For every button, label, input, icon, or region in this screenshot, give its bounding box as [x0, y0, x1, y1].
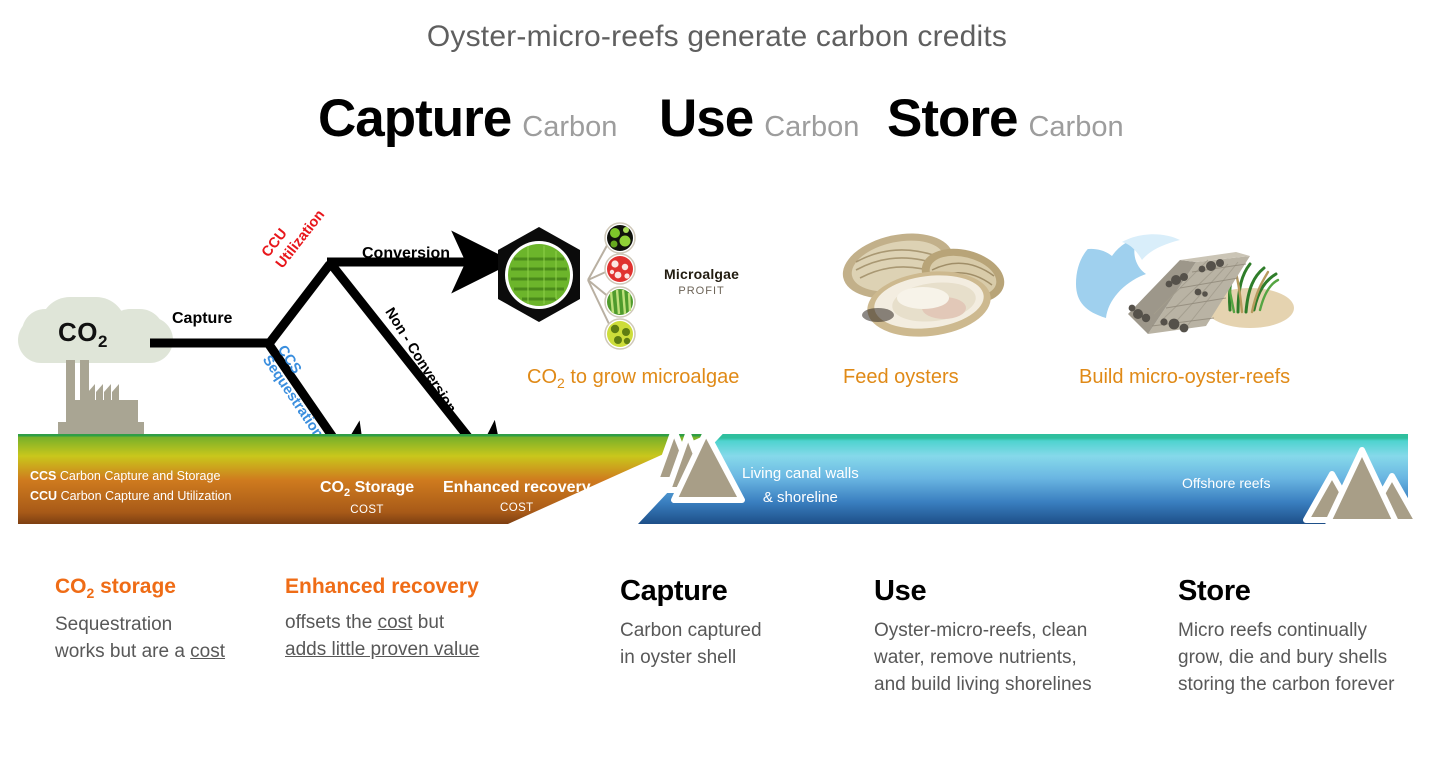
bottom-heading-store: Store	[1178, 575, 1434, 608]
body-line: and build living shorelines	[874, 671, 1174, 698]
algae-cell-striped-icon	[605, 287, 635, 317]
body-line: Carbon captured	[620, 617, 870, 644]
bottom-column-capture: Capture Carbon captured in oyster shell	[620, 575, 870, 671]
microalgae-name: Microalgae	[664, 266, 739, 282]
body-line: Oyster-micro-reefs, clean	[874, 617, 1174, 644]
bottom-body-co2-storage: Sequestration works but are a cost	[55, 611, 285, 665]
bottom-column-enhanced-recovery: Enhanced recovery offsets the cost but a…	[285, 575, 585, 663]
legend-abbr-ccs: CCS	[30, 469, 56, 483]
body-line: storing the carbon forever	[1178, 671, 1434, 698]
underlined-term: cost	[378, 612, 413, 633]
caption-build-reefs: Build micro-oyster-reefs	[1079, 366, 1290, 389]
oyster-photo-icon	[826, 222, 1021, 347]
underlined-term: cost	[190, 641, 225, 662]
bottom-heading-capture: Capture	[620, 575, 870, 608]
body-line: Micro reefs continually	[1178, 617, 1434, 644]
sink-title-enhanced-recovery: Enhanced recovery	[443, 479, 591, 497]
body-line: in oyster shell	[620, 644, 870, 671]
algae-cell-yellow-icon	[605, 319, 635, 349]
algae-cell-dark-icon	[605, 223, 635, 253]
caption-grow-microalgae: CO2 to grow microalgae	[527, 366, 739, 391]
living-walls-line1: Living canal walls	[742, 462, 859, 486]
bottom-body-use: Oyster-micro-reefs, clean water, remove …	[874, 617, 1174, 698]
bottom-heading-co2-storage: CO2 storage	[55, 575, 285, 601]
infographic-canvas: Oyster-micro-reefs generate carbon credi…	[0, 0, 1434, 764]
bottom-body-capture: Carbon captured in oyster shell	[620, 617, 870, 671]
underlined-term: adds little proven value	[285, 639, 479, 660]
bottom-heading-enhanced-recovery: Enhanced recovery	[285, 575, 585, 599]
body-line: adds little proven value	[285, 636, 585, 663]
bottom-column-use: Use Oyster-micro-reefs, clean water, rem…	[874, 575, 1174, 698]
band-label-offshore-reefs: Offshore reefs	[1182, 475, 1270, 491]
sink-title-co2-storage: CO2 Storage	[320, 479, 414, 499]
microalgae-label: Microalgae PROFIT	[664, 266, 739, 297]
body-line: Sequestration	[55, 611, 285, 638]
ccs-ccu-legend: CCS Carbon Capture and Storage CCU Carbo…	[30, 466, 232, 506]
legend-row-ccs: CCS Carbon Capture and Storage	[30, 466, 232, 486]
legend-row-ccu: CCU Carbon Capture and Utilization	[30, 486, 232, 506]
sink-label-co2-storage: CO2 Storage COST	[320, 479, 414, 516]
bottom-column-co2-storage: CO2 storage Sequestration works but are …	[55, 575, 285, 665]
algae-cell-cluster	[596, 222, 652, 362]
bottom-columns: CO2 storage Sequestration works but are …	[0, 575, 1434, 745]
edge-label-conversion: Conversion	[362, 245, 450, 263]
edge-label-capture: Capture	[172, 310, 232, 328]
living-walls-line2: & shoreline	[742, 486, 859, 510]
band-label-living-canal-walls: Living canal walls & shoreline	[742, 462, 859, 510]
body-line: water, remove nutrients,	[874, 644, 1174, 671]
sink-cost-co2-storage: COST	[320, 504, 414, 516]
arrow-non-conversion	[331, 264, 488, 462]
legend-text-ccu: Carbon Capture and Utilization	[61, 489, 232, 503]
sink-label-enhanced-recovery: Enhanced recovery COST	[443, 479, 591, 514]
microalgae-profit: PROFIT	[664, 285, 739, 297]
micro-reef-module-icon	[1068, 222, 1298, 347]
bottom-column-store: Store Micro reefs continually grow, die …	[1178, 575, 1434, 698]
legend-abbr-ccu: CCU	[30, 489, 57, 503]
bottom-body-store: Micro reefs continually grow, die and bu…	[1178, 617, 1434, 698]
bottom-heading-use: Use	[874, 575, 1174, 608]
body-line: works but are a cost	[55, 638, 285, 665]
legend-text-ccs: Carbon Capture and Storage	[60, 469, 221, 483]
caption-feed-oysters: Feed oysters	[843, 366, 959, 389]
offshore-reef-triangles-icon	[1296, 438, 1424, 526]
sink-cost-enhanced-recovery: COST	[443, 502, 591, 514]
algae-cell-red-icon	[605, 254, 635, 284]
body-line: grow, die and bury shells	[1178, 644, 1434, 671]
arrow-ccu-branch	[268, 264, 330, 345]
bottom-body-enhanced-recovery: offsets the cost but adds little proven …	[285, 609, 585, 663]
body-line: offsets the cost but	[285, 609, 585, 636]
